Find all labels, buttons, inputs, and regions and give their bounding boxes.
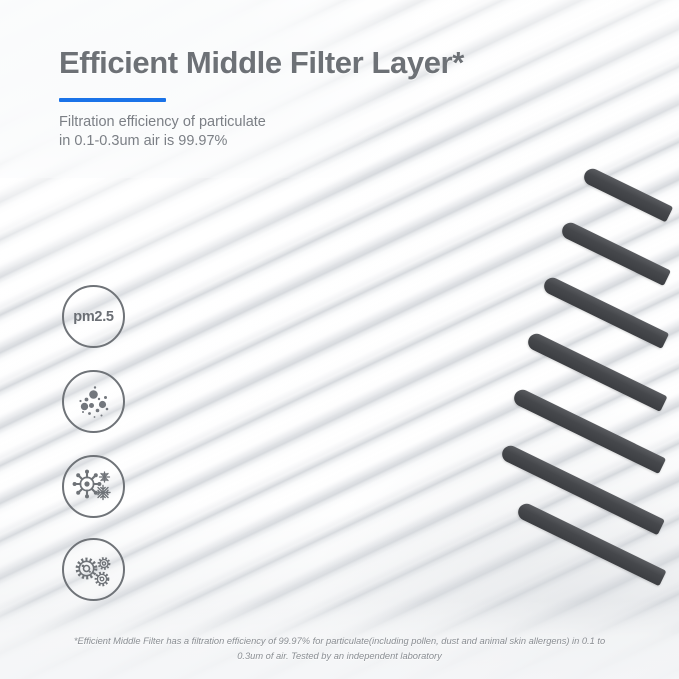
footnote-text: *Efficient Middle Filter has a filtratio… <box>65 634 615 663</box>
badge-pollen <box>62 538 125 601</box>
pleat-tip <box>559 220 671 286</box>
header-backdrop <box>0 0 430 178</box>
filter-promo-graphic: Efficient Middle Filter Layer* Filtratio… <box>0 0 679 679</box>
badge-pm25: pm2.5 <box>62 285 125 348</box>
badge-germs <box>62 455 125 518</box>
pleat-tip <box>581 166 673 222</box>
accent-divider <box>59 98 166 102</box>
badge-particles <box>62 370 125 433</box>
pleat-tip <box>541 275 669 349</box>
virus-snowflake-icon <box>71 464 117 510</box>
subtitle-text: Filtration efficiency of particulate in … <box>59 113 266 151</box>
dust-particles-icon <box>72 380 116 424</box>
pollen-gears-icon <box>71 547 117 593</box>
pm25-label: pm2.5 <box>73 309 113 325</box>
page-title: Efficient Middle Filter Layer* <box>59 45 464 81</box>
pleat-tips-group <box>489 0 679 679</box>
